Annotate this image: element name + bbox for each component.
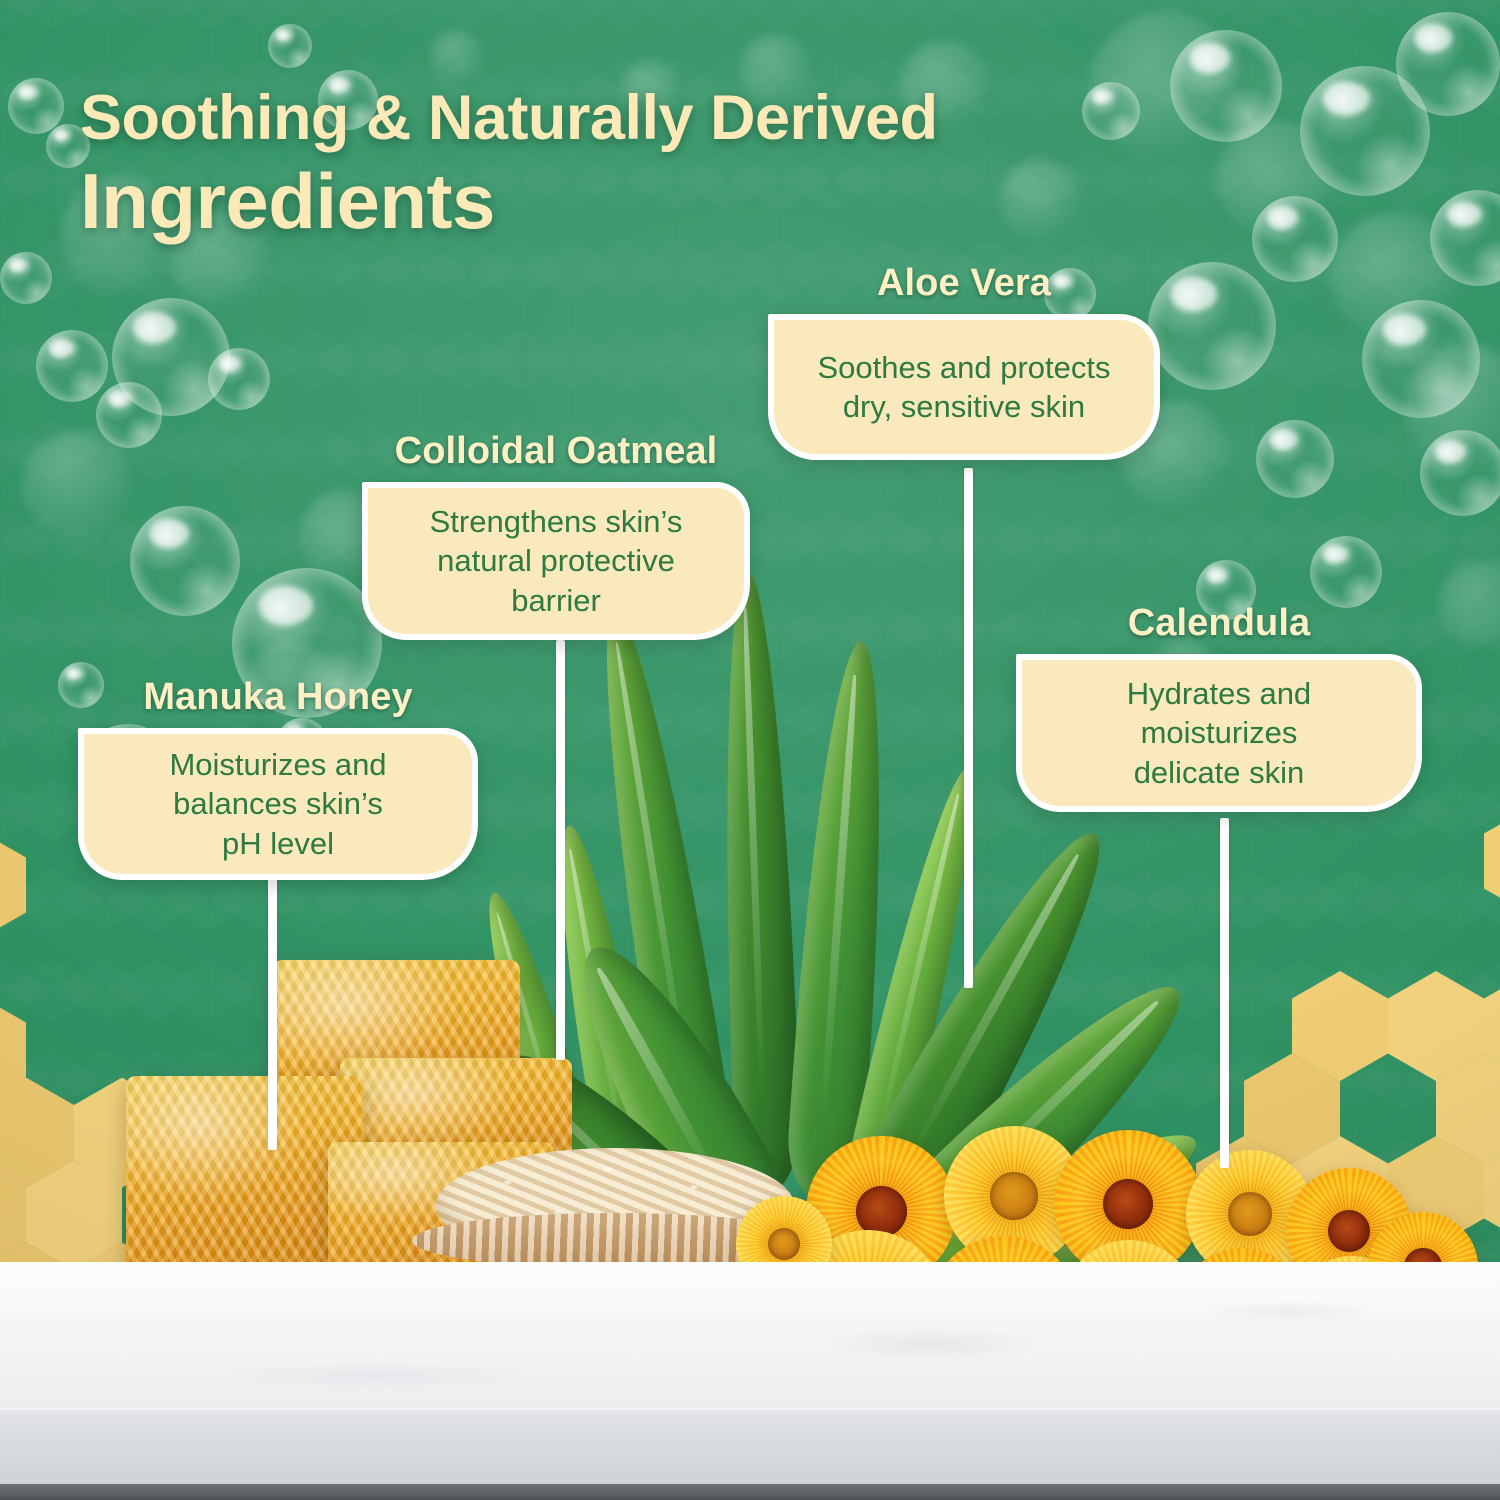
callout-title-manuka-honey: Manuka Honey xyxy=(78,676,478,719)
callout-box-aloe-vera[interactable]: Soothes and protects dry, sensitive skin xyxy=(768,314,1160,460)
counter-surface xyxy=(0,1262,1500,1408)
marble-counter xyxy=(0,1262,1500,1500)
counter-front-edge xyxy=(0,1408,1500,1486)
callout-title-aloe-vera: Aloe Vera xyxy=(768,262,1160,305)
pointer-line-manuka-honey xyxy=(268,860,277,1150)
callout-title-calendula: Calendula xyxy=(1016,602,1422,645)
pointer-line-calendula xyxy=(1220,818,1229,1168)
callout-body-aloe-vera: Soothes and protects dry, sensitive skin xyxy=(818,348,1111,426)
callout-body-colloidal-oatmeal: Strengthens skin’s natural protective ba… xyxy=(430,502,683,619)
infographic-canvas: Soothing & Naturally Derived Ingredients… xyxy=(0,0,1500,1500)
callout-title-colloidal-oatmeal: Colloidal Oatmeal xyxy=(362,430,750,473)
callout-box-colloidal-oatmeal[interactable]: Strengthens skin’s natural protective ba… xyxy=(362,482,750,640)
callout-box-calendula[interactable]: Hydrates and moisturizes delicate skin xyxy=(1016,654,1422,812)
title-line-2: Ingredients xyxy=(80,162,1080,242)
page-title: Soothing & Naturally Derived Ingredients xyxy=(80,86,1080,242)
counter-under-shadow xyxy=(0,1484,1500,1500)
pointer-line-colloidal-oatmeal xyxy=(556,640,565,1060)
title-line-1: Soothing & Naturally Derived xyxy=(80,86,1080,150)
pointer-line-aloe-vera xyxy=(964,468,973,988)
callout-box-manuka-honey[interactable]: Moisturizes and balances skin’s pH level xyxy=(78,728,478,880)
callout-body-manuka-honey: Moisturizes and balances skin’s pH level xyxy=(169,745,386,862)
callout-body-calendula: Hydrates and moisturizes delicate skin xyxy=(1127,674,1311,791)
